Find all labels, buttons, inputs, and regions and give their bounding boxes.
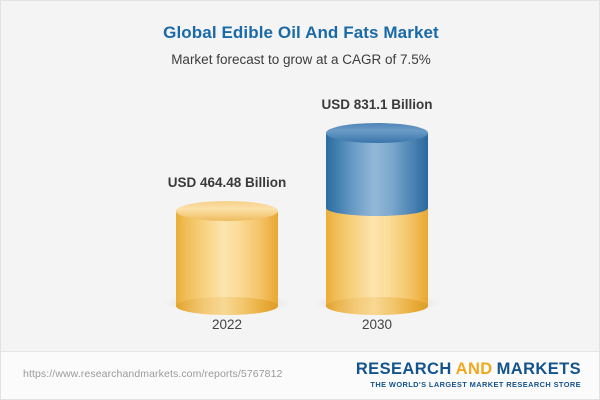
bar-segment-2022-base [176, 211, 278, 306]
logo-wordmark: RESEARCHANDMARKETS [356, 360, 581, 378]
chart-plot-area: USD 464.48 Billion 2022 USD 831.1 Billio… [1, 1, 600, 353]
research-and-markets-logo[interactable]: RESEARCHANDMARKETS THE WORLD'S LARGEST M… [356, 360, 581, 390]
market-infographic: Global Edible Oil And Fats Market Market… [0, 0, 600, 400]
bar-segment-2030-base [326, 208, 428, 306]
bar-cap-2022 [176, 201, 278, 221]
bar-cap-2030 [326, 123, 428, 143]
bar-segment-2030-growth [326, 133, 428, 208]
bar-stack-divider-2030 [326, 200, 428, 216]
value-label-2030: USD 831.1 Billion [257, 97, 497, 112]
value-label-2022: USD 464.48 Billion [107, 175, 347, 190]
logo-tagline: THE WORLD'S LARGEST MARKET RESEARCH STOR… [356, 379, 581, 390]
logo-word-markets: MARKETS [497, 360, 581, 378]
report-url[interactable]: https://www.researchandmarkets.com/repor… [23, 368, 282, 380]
logo-word-research: RESEARCH [356, 360, 452, 378]
footer: https://www.researchandmarkets.com/repor… [1, 351, 600, 399]
bar-foot-2022 [176, 297, 278, 315]
category-label-2030: 2030 [326, 317, 428, 332]
bar-foot-2030 [326, 297, 428, 315]
logo-word-and: AND [456, 360, 493, 378]
category-label-2022: 2022 [176, 317, 278, 332]
